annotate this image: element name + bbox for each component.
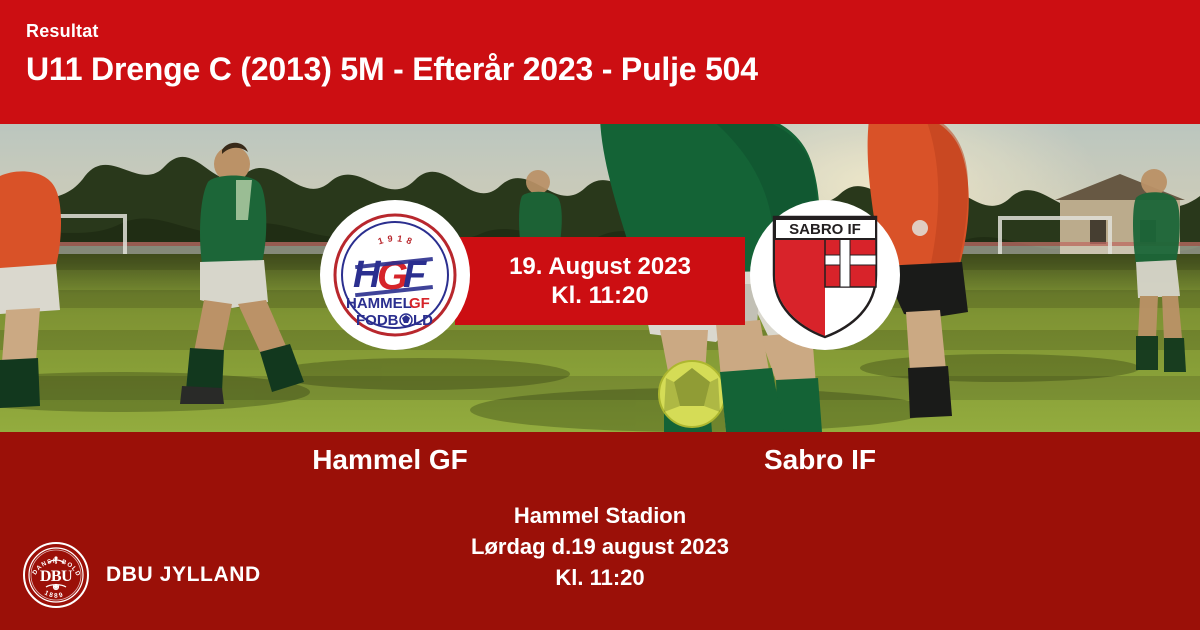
svg-text:GF: GF: [409, 295, 430, 312]
match-date: 19. August 2023: [509, 252, 691, 281]
dbu-seal-icon: DANSK BOLDSPIL-UNION 1889 DBU: [22, 541, 90, 609]
home-team-crest: 1918 H G F HAMMEL GF FODB LD: [320, 200, 470, 350]
dbu-seal-monogram: DBU: [40, 568, 73, 585]
svg-text:HAMMEL: HAMMEL: [346, 295, 412, 312]
venue-name: Hammel Stadion: [0, 500, 1200, 531]
dbu-jylland-logo: DANSK BOLDSPIL-UNION 1889 DBU DBU JYLLAN…: [22, 541, 261, 609]
away-team-name: Sabro IF: [620, 444, 1020, 476]
hammel-gf-crest-icon: 1918 H G F HAMMEL GF FODB LD: [329, 209, 461, 341]
poster-header: Resultat U11 Drenge C (2013) 5M - Efterå…: [0, 0, 1200, 124]
page-title: U11 Drenge C (2013) 5M - Efterår 2023 - …: [26, 49, 1200, 89]
header-kicker: Resultat: [26, 20, 1200, 42]
svg-text:LD: LD: [413, 312, 433, 329]
sabro-banner-text: SABRO IF: [789, 221, 861, 238]
team-names-row: Hammel GF Sabro IF: [0, 440, 1200, 480]
dbu-org-name: DBU JYLLAND: [106, 563, 261, 587]
sabro-if-crest-icon: SABRO IF: [766, 209, 884, 341]
match-time: Kl. 11:20: [551, 281, 648, 310]
match-date-banner: 19. August 2023 Kl. 11:20: [455, 237, 745, 325]
home-team-name: Hammel GF: [190, 444, 590, 476]
match-result-poster: Resultat U11 Drenge C (2013) 5M - Efterå…: [0, 0, 1200, 630]
svg-text:FODB: FODB: [356, 312, 399, 329]
away-team-crest: SABRO IF: [750, 200, 900, 350]
